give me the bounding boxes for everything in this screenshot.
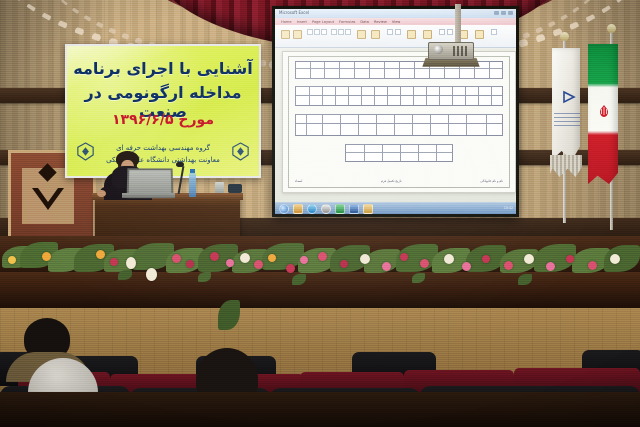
start-orb-icon[interactable] [279, 204, 289, 214]
cup [215, 182, 224, 193]
word-icon[interactable] [349, 204, 359, 214]
footer-name: نام و نام خانوادگی [480, 179, 503, 183]
banner-headline-line1: آشنایی با اجرای برنامه [67, 59, 259, 78]
align-right-icon[interactable] [345, 29, 351, 35]
organization-flag-emblem-icon [562, 90, 576, 104]
number-format-icon[interactable] [407, 30, 416, 39]
explorer-icon[interactable] [293, 204, 303, 214]
bold-icon[interactable] [307, 29, 313, 35]
table-body-block [295, 86, 503, 106]
maximize-icon[interactable] [501, 11, 506, 15]
media-icon[interactable] [321, 204, 331, 214]
water-bottle [189, 173, 196, 197]
organization-flag [552, 48, 580, 160]
event-banner: آشنایی با اجرای برنامه مداخله ارگونومی د… [65, 44, 261, 178]
browser-icon[interactable] [307, 204, 317, 214]
excel-icon[interactable] [335, 204, 345, 214]
projector-mount-arm [455, 4, 461, 44]
wall-emblem-icon [28, 176, 68, 216]
seal-right-icon [232, 142, 249, 161]
desk-object [228, 184, 242, 193]
flag-finial-left [560, 32, 569, 41]
projector-lens-icon [434, 45, 443, 54]
font-icon[interactable] [293, 30, 302, 39]
tab-formulas[interactable]: Formulas [339, 20, 355, 24]
microphone-head-icon [176, 162, 184, 167]
minimize-icon[interactable] [494, 11, 499, 15]
app-title: Microsoft Excel [279, 10, 309, 15]
paste-icon[interactable] [281, 30, 290, 39]
tab-home[interactable]: Home [281, 20, 292, 24]
banner-date: مورخ ۱۳۹۶/۶/۵ [67, 112, 259, 128]
seal-left-icon [77, 142, 94, 161]
floral-arrangement [0, 240, 640, 288]
document-page[interactable]: امضاء تاریخ تکمیل فرم نام و نام خانوادگی [282, 51, 516, 193]
table-detail-block [295, 114, 503, 136]
align-center-icon[interactable] [338, 29, 344, 35]
auditorium-photo: آشنایی با اجرای برنامه مداخله ارگونومی د… [0, 0, 640, 427]
borders-icon[interactable] [357, 30, 366, 39]
banner-subtitle-line2: معاونت بهداشتی دانشگاه علوم پزشکی [67, 156, 259, 164]
footer-signature: امضاء [295, 179, 302, 183]
foreground-shadow [0, 392, 640, 427]
tab-review[interactable]: Review [374, 20, 387, 24]
taskbar[interactable]: 10:42 [275, 202, 516, 214]
document-footer: امضاء تاریخ تکمیل فرم نام و نام خانوادگی [295, 179, 503, 183]
water-bottle-cap [190, 169, 195, 173]
laptop-base [122, 193, 175, 198]
insert-row-icon[interactable] [439, 29, 445, 35]
presenter-hand [97, 190, 106, 197]
iran-flag-emblem-icon [598, 104, 610, 118]
window-buttons[interactable] [494, 11, 513, 15]
footer-date: تاریخ تکمیل فرم [381, 179, 401, 183]
projection-screen-frame: Microsoft Excel Home Insert Page Layout … [272, 6, 519, 217]
fill-color-icon[interactable] [371, 30, 380, 39]
wrap-text-icon[interactable] [395, 29, 401, 35]
tab-page-layout[interactable]: Page Layout [312, 20, 334, 24]
close-icon[interactable] [508, 11, 513, 15]
align-left-icon[interactable] [331, 29, 337, 35]
underline-icon[interactable] [321, 29, 327, 35]
taskbar-clock[interactable]: 10:42 [504, 206, 513, 210]
tab-view[interactable]: View [392, 20, 401, 24]
italic-icon[interactable] [314, 29, 320, 35]
find-select-icon[interactable] [475, 30, 484, 39]
autosum-icon[interactable] [491, 29, 497, 35]
tab-data[interactable]: Data [360, 20, 369, 24]
merge-cells-icon[interactable] [387, 29, 393, 35]
projection-screen: Microsoft Excel Home Insert Page Layout … [275, 9, 516, 214]
conditional-format-icon[interactable] [423, 30, 432, 39]
table-summary-block [345, 144, 453, 162]
organization-flag-text [554, 112, 580, 126]
ribbon-toolbar[interactable] [275, 25, 516, 48]
ribbon-tabs[interactable]: Home Insert Page Layout Formulas Data Re… [275, 18, 516, 25]
folder-icon[interactable] [363, 204, 373, 214]
tab-insert[interactable]: Insert [297, 20, 307, 24]
flag-finial-right [607, 24, 616, 33]
delete-row-icon[interactable] [447, 29, 453, 35]
banner-subtitle-line1: گروه مهندسی بهداشت حرفه ای [67, 144, 259, 152]
